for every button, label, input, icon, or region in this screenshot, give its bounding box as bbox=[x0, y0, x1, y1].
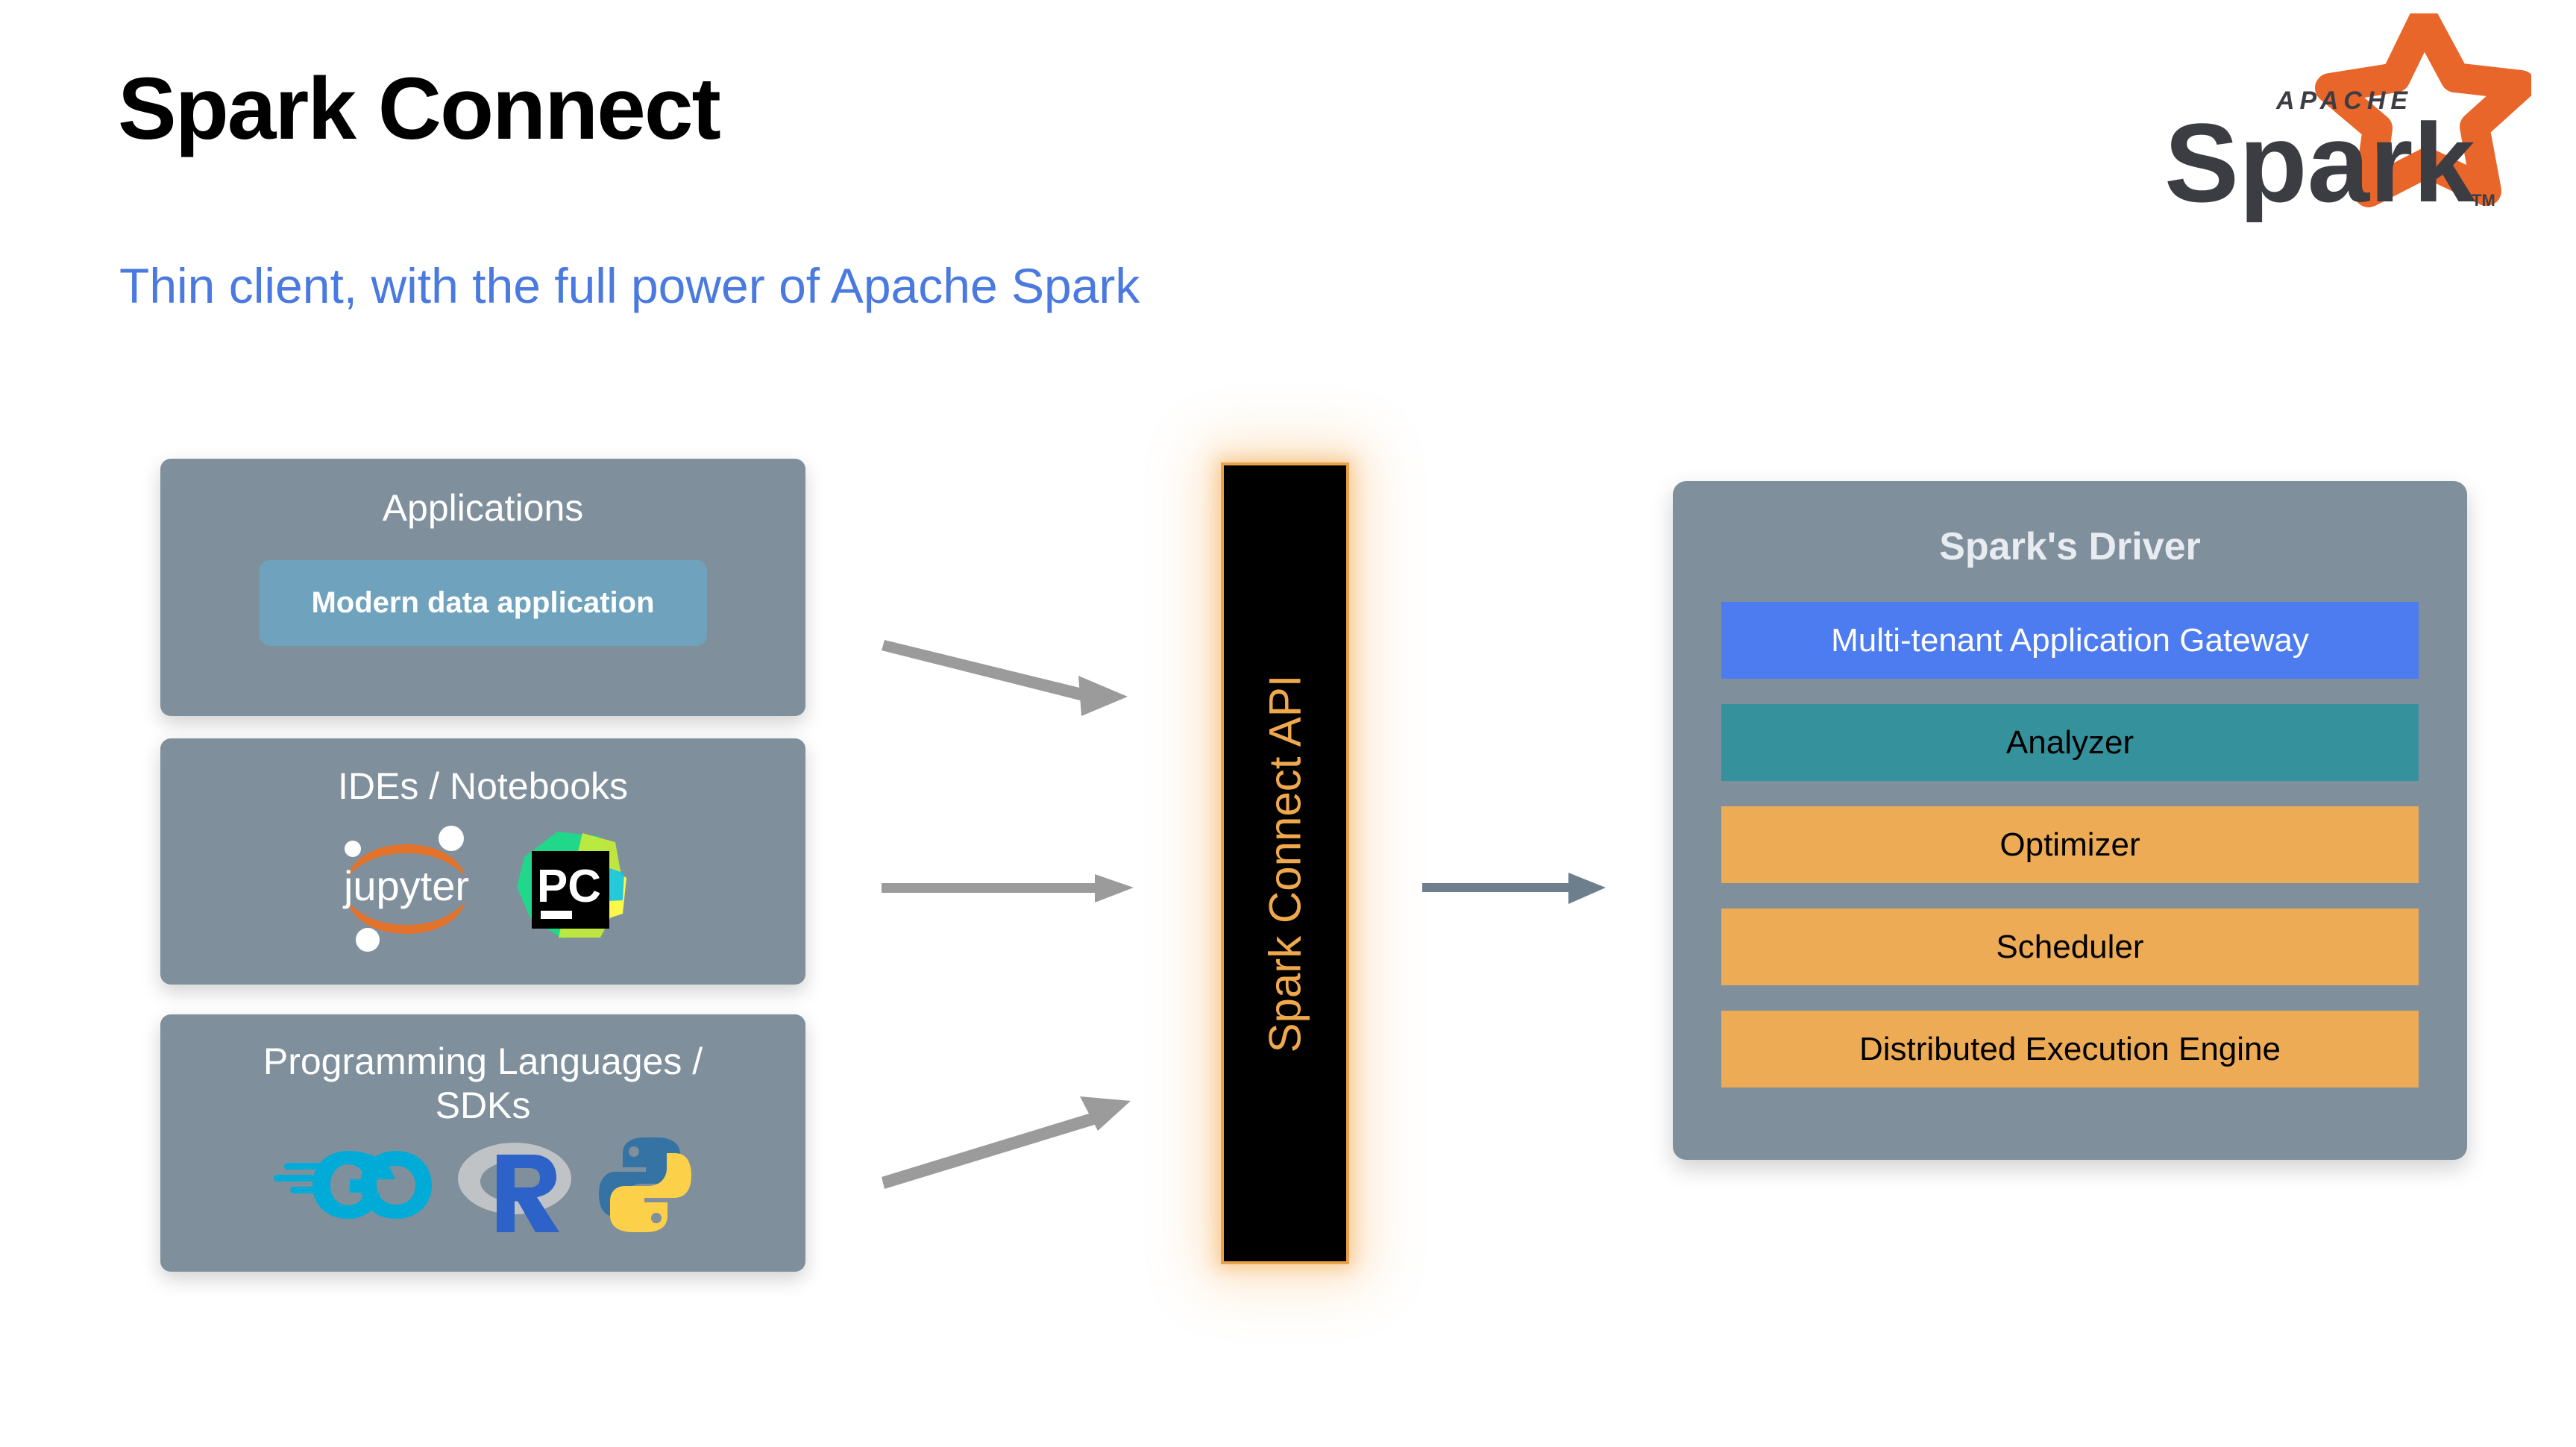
spark-connect-api-label: Spark Connect API bbox=[1260, 674, 1311, 1052]
client-box-title: IDEs / Notebooks bbox=[160, 738, 805, 809]
logo-trademark: TM bbox=[2472, 191, 2495, 210]
driver-row-execution-engine[interactable]: Distributed Execution Engine bbox=[1721, 1011, 2419, 1087]
arrow-connect-to-driver bbox=[1421, 850, 1637, 925]
python-logo bbox=[597, 1134, 694, 1235]
arrow-ides-to-connect bbox=[880, 843, 1193, 932]
page-title: Spark Connect bbox=[118, 58, 720, 160]
client-box-programming-languages: Programming Languages / SDKs bbox=[160, 1014, 805, 1272]
pycharm-logo: PC bbox=[511, 826, 634, 949]
driver-row-gateway[interactable]: Multi-tenant Application Gateway bbox=[1721, 602, 2419, 679]
logo-wordmark: Spark bbox=[2164, 100, 2475, 222]
driver-row-optimizer[interactable]: Optimizer bbox=[1721, 806, 2419, 883]
language-logo-row bbox=[160, 1132, 805, 1237]
page-subtitle: Thin client, with the full power of Apac… bbox=[119, 257, 1140, 314]
svg-text:jupyter: jupyter bbox=[342, 862, 469, 909]
jupyter-logo: jupyter bbox=[332, 822, 481, 952]
driver-row-list: Multi-tenant Application Gateway Analyze… bbox=[1673, 602, 2467, 1087]
spark-connect-api-bar[interactable]: Spark Connect API bbox=[1221, 462, 1349, 1264]
arrow-languages-to-connect bbox=[880, 1052, 1193, 1208]
svg-text:PC: PC bbox=[537, 861, 601, 912]
go-logo bbox=[272, 1142, 433, 1228]
arrow-applications-to-connect bbox=[880, 604, 1193, 746]
spark-driver-panel: Spark's Driver Multi-tenant Application … bbox=[1673, 481, 2467, 1160]
client-box-title: Applications bbox=[160, 459, 805, 530]
driver-row-analyzer[interactable]: Analyzer bbox=[1721, 704, 2419, 781]
spark-driver-title: Spark's Driver bbox=[1673, 481, 2467, 569]
client-box-title: Programming Languages / SDKs bbox=[160, 1014, 805, 1128]
r-logo bbox=[455, 1132, 574, 1237]
client-box-ides-notebooks: IDEs / Notebooks jupyter PC bbox=[160, 738, 805, 985]
modern-data-application-chip[interactable]: Modern data application bbox=[260, 560, 707, 646]
driver-row-scheduler[interactable]: Scheduler bbox=[1721, 908, 2419, 985]
client-box-applications: Applications Modern data application bbox=[160, 459, 805, 716]
apache-spark-logo: APACHE Spark TM bbox=[2158, 13, 2531, 222]
ide-logo-row: jupyter PC bbox=[160, 822, 805, 952]
